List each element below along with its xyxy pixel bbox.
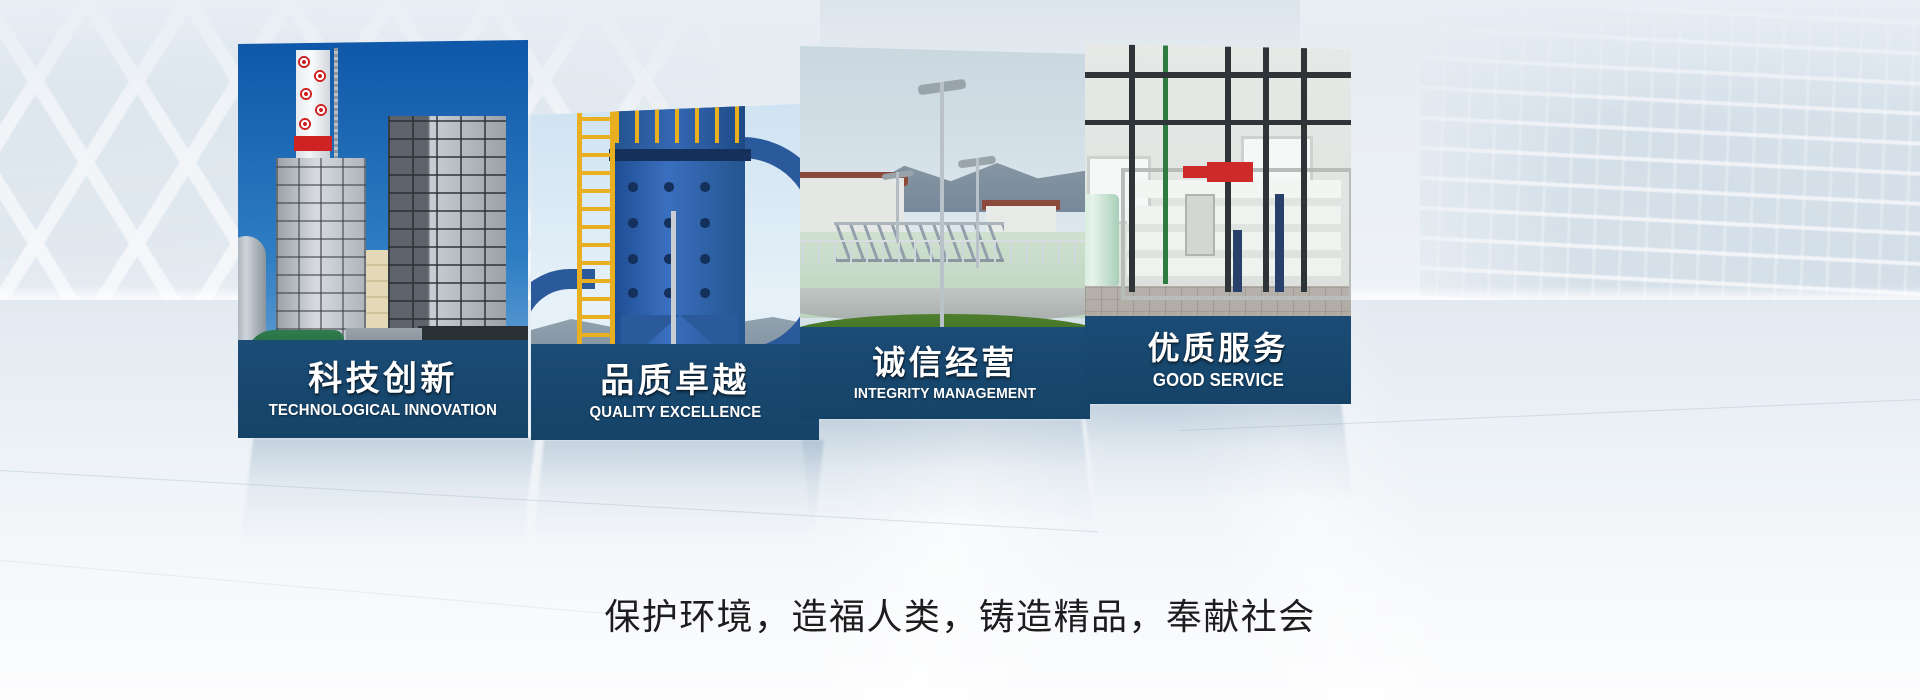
card-title-en: TECHNOLOGICAL INNOVATION <box>269 403 497 419</box>
card-title-cn: 诚信经营 <box>872 346 1017 379</box>
card-reflection <box>239 438 536 558</box>
card-caption-banner: 科技创新 TECHNOLOGICAL INNOVATION <box>238 340 528 438</box>
card-title-cn: 优质服务 <box>1148 332 1289 364</box>
card-reflection <box>1083 404 1355 514</box>
card-good-service[interactable]: 优质服务 GOOD SERVICE <box>1085 44 1351 404</box>
card-title-en: QUALITY EXCELLENCE <box>589 405 761 421</box>
card-reflection <box>800 419 1094 537</box>
hero-banner: 科技创新 TECHNOLOGICAL INNOVATION 品质卓越 QUALI… <box>0 0 1920 700</box>
card-caption-banner: 诚信经营 INTEGRITY MANAGEMENT <box>800 327 1090 419</box>
card-caption-banner: 优质服务 GOOD SERVICE <box>1085 316 1351 404</box>
card-integrity-management[interactable]: 诚信经营 INTEGRITY MANAGEMENT <box>800 46 1090 419</box>
card-technological-innovation[interactable]: 科技创新 TECHNOLOGICAL INNOVATION <box>238 40 528 438</box>
card-title-en: GOOD SERVICE <box>1152 371 1283 389</box>
hero-tagline: 保护环境，造福人类，铸造精品，奉献社会 <box>0 588 1920 640</box>
card-reflection <box>532 440 824 552</box>
card-caption-banner: 品质卓越 QUALITY EXCELLENCE <box>531 344 819 440</box>
card-title-cn: 科技创新 <box>308 362 458 396</box>
card-title-cn: 品质卓越 <box>600 364 750 398</box>
right-fade-overlay <box>1300 0 1920 470</box>
card-quality-excellence[interactable]: 品质卓越 QUALITY EXCELLENCE <box>531 103 819 440</box>
glass-facade-backdrop <box>1420 0 1920 450</box>
card-title-en: INTEGRITY MANAGEMENT <box>854 386 1036 401</box>
